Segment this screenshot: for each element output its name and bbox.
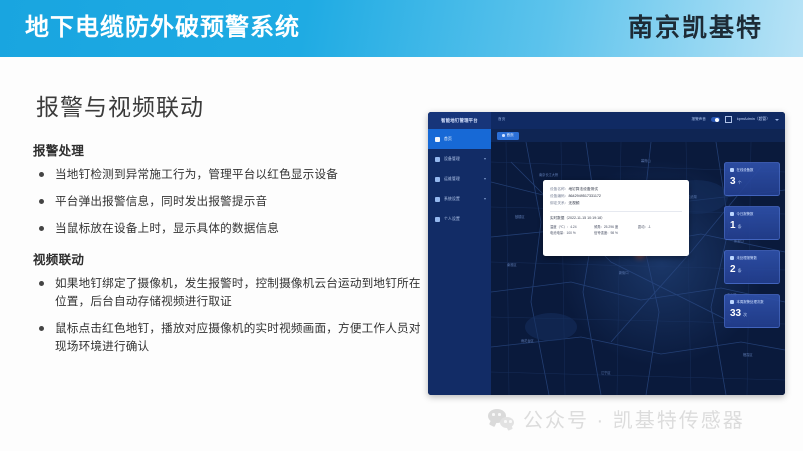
list-item: 如果地钉绑定了摄像机，发生报警时，控制摄像机云台运动到地钉所在位置，后台自动存储…	[33, 275, 423, 311]
sidebar-item-device[interactable]: 设备管理	[428, 149, 491, 169]
stat-unit: 条	[738, 268, 742, 273]
popup-metrics: 温度（℃）：4.24 倾角：25.296 度 震动：-1 电池电量：100 % …	[550, 224, 682, 237]
pending-icon	[730, 256, 734, 260]
stat-value: 2	[730, 264, 736, 275]
map-label: 新街口	[619, 270, 629, 275]
bullet-dot-icon	[39, 172, 44, 177]
home-icon	[435, 137, 440, 142]
map-label: 栖霞区	[743, 352, 753, 357]
topbar-right: 报警声音 kpmAdmin（超管）	[692, 116, 780, 123]
ops-icon	[435, 177, 440, 182]
map-label: 幕府山	[641, 158, 651, 163]
stat-card-pending-alarms[interactable]: 未处理报警数 2条	[724, 250, 780, 284]
metric-key: 震动：	[638, 225, 648, 229]
stat-value: 3	[730, 176, 736, 187]
stat-card-list: 在线设备数 3个 今日报警数 1条 未处理报	[724, 162, 780, 338]
stat-label: 今日报警数	[737, 211, 754, 216]
stat-card-today-alarms[interactable]: 今日报警数 1条	[724, 206, 780, 240]
sidebar-item-home[interactable]: 首页	[428, 129, 491, 149]
user-menu-label[interactable]: kpmAdmin（超管）	[737, 117, 770, 122]
breadcrumb: 首页	[498, 117, 506, 122]
sidebar-item-label: 个人设置	[444, 217, 460, 222]
stat-card-week-handled[interactable]: 本周报警处理次数 33次	[724, 294, 780, 328]
watermark-text: 公众号 · 凯基特传感器	[523, 404, 745, 433]
metric-key: 倾角：	[594, 225, 604, 229]
stat-unit: 次	[743, 312, 747, 317]
list-item: 鼠标点击红色地钉，播放对应摄像机的实时视频画面，方便工作人员对现场环境进行确认	[33, 320, 423, 356]
metric-value: 25.296 度	[604, 225, 618, 229]
bullet-dot-icon	[39, 226, 44, 231]
map-label: 秦淮区	[507, 262, 517, 267]
sidebar-item-label: 设备管理	[444, 157, 460, 162]
gear-icon	[435, 197, 440, 202]
slide: 地下电缆防外破预警系统 南京凯基特 报警与视频联动 报警处理 当地钉检测到异常施…	[0, 0, 803, 451]
sidebar-item-settings[interactable]: 系统设置	[428, 189, 491, 209]
stat-label: 在线设备数	[737, 167, 754, 172]
divider	[550, 211, 682, 212]
close-icon[interactable]	[502, 134, 505, 137]
stat-value: 33	[730, 308, 741, 319]
list-item-text: 如果地钉绑定了摄像机，发生报警时，控制摄像机云台运动到地钉所在位置，后台自动存储…	[55, 277, 421, 308]
stat-value-row: 3个	[730, 176, 774, 188]
metric-key: 温度（℃）：	[550, 225, 570, 229]
stat-value-row: 1条	[730, 220, 774, 232]
bullet-dot-icon	[39, 326, 44, 331]
popup-row-value: 8642949517331172	[568, 194, 601, 198]
metric-cell: 信号强度：98 %	[594, 230, 638, 236]
sidebar-item-label: 运维管理	[444, 177, 460, 182]
list-item-text: 当鼠标放在设备上时，显示具体的数据信息	[55, 222, 279, 235]
stat-label-row: 今日报警数	[730, 211, 774, 216]
map-label: 鼓楼区	[515, 214, 525, 219]
metric-cell: 震动：-1	[638, 224, 682, 230]
device-info-popup: 设备名称：地钉算法设备测试 设备编码：8642949517331172 绑定关系…	[543, 180, 689, 256]
stat-label-row: 本周报警处理次数	[730, 299, 774, 304]
dashboard-screenshot: 智能地钉管理平台 首页 报警声音 kpmAdmin（超管） 首页 设备管理	[428, 112, 785, 395]
sidebar-item-label: 首页	[444, 137, 452, 142]
stat-value-row: 2条	[730, 264, 774, 276]
header-title: 地下电缆防外破预警系统	[25, 12, 300, 44]
metric-value: 100 %	[566, 231, 575, 235]
bullet-list-alarm: 当地钉检测到异常施工行为，管理平台以红色显示设备 平台弹出报警信息，同时发出报警…	[33, 166, 423, 238]
alarm-sound-label: 报警声音	[692, 117, 706, 122]
dashboard-logo: 智能地钉管理平台	[428, 112, 491, 129]
list-item-text: 鼠标点击红色地钉，播放对应摄像机的实时视频画面，方便工作人员对现场环境进行确认	[55, 322, 421, 353]
metric-key: 信号强度：	[594, 231, 610, 235]
metric-value: -1	[648, 225, 651, 229]
popup-row-value: 地钉算法设备测试	[568, 187, 598, 191]
stat-card-online-devices[interactable]: 在线设备数 3个	[724, 162, 780, 196]
tab-label: 首页	[507, 133, 514, 138]
popup-row-key: 设备名称：	[550, 187, 568, 191]
dashboard-main: 首页	[491, 129, 785, 395]
fullscreen-icon[interactable]	[725, 116, 732, 123]
sidebar-item-label: 系统设置	[444, 197, 460, 202]
user-icon	[435, 217, 440, 222]
stat-label: 本周报警处理次数	[737, 299, 764, 304]
chevron-down-icon[interactable]	[775, 119, 779, 121]
popup-row: 设备名称：地钉算法设备测试	[550, 186, 682, 193]
list-item: 平台弹出报警信息，同时发出报警提示音	[33, 193, 423, 211]
metric-cell: 电池电量：100 %	[550, 230, 594, 236]
list-item: 当鼠标放在设备上时，显示具体的数据信息	[33, 220, 423, 238]
stat-label-row: 未处理报警数	[730, 255, 774, 260]
bullet-dot-icon	[39, 281, 44, 286]
chevron-down-icon	[484, 158, 486, 160]
header-brand: 南京凯基特	[628, 10, 763, 46]
map-label: 南京长江大桥	[539, 172, 558, 177]
map-label: 雨花台区	[521, 338, 534, 343]
bullet-dot-icon	[39, 199, 44, 204]
dashboard-topbar: 智能地钉管理平台 首页 报警声音 kpmAdmin（超管）	[428, 112, 785, 129]
content-column: 报警处理 当地钉检测到异常施工行为，管理平台以红色显示设备 平台弹出报警信息，同…	[33, 140, 423, 365]
popup-row-value: 无视频	[568, 201, 579, 205]
map-label: 江宁区	[601, 370, 611, 375]
stat-value: 1	[730, 220, 736, 231]
device-icon	[435, 157, 440, 162]
tab-home[interactable]: 首页	[497, 132, 519, 140]
slide-header: 地下电缆防外破预警系统 南京凯基特	[0, 0, 803, 57]
bullet-list-video: 如果地钉绑定了摄像机，发生报警时，控制摄像机云台运动到地钉所在位置，后台自动存储…	[33, 275, 423, 356]
list-item-text: 平台弹出报警信息，同时发出报警提示音	[55, 195, 267, 208]
watermark: 公众号 · 凯基特传感器	[488, 404, 745, 433]
stat-value-row: 33次	[730, 308, 774, 320]
page-title: 报警与视频联动	[36, 88, 204, 122]
stat-label: 未处理报警数	[737, 255, 757, 260]
chevron-down-icon	[484, 198, 486, 200]
metric-value: 98 %	[610, 231, 618, 235]
stat-label-row: 在线设备数	[730, 167, 774, 172]
dashboard-tabbar: 首页	[491, 129, 785, 142]
popup-row-key: 设备编码：	[550, 194, 568, 198]
metric-key: 电池电量：	[550, 231, 566, 235]
chevron-down-icon	[484, 178, 486, 180]
stat-unit: 个	[738, 180, 742, 185]
user-handle-icon	[730, 300, 734, 304]
metric-value: 4.24	[570, 225, 576, 229]
calendar-icon	[730, 212, 734, 216]
wechat-icon	[488, 409, 514, 428]
list-item-text: 当地钉检测到异常施工行为，管理平台以红色显示设备	[55, 168, 338, 181]
section-heading-alarm: 报警处理	[33, 140, 423, 159]
popup-realtime-title: 实时数据（2022-11-15 10:19:18）	[550, 215, 682, 222]
stat-unit: 条	[738, 224, 742, 229]
sidebar-item-profile[interactable]: 个人设置	[428, 209, 491, 229]
alarm-sound-toggle[interactable]	[711, 117, 720, 122]
list-item: 当地钉检测到异常施工行为，管理平台以红色显示设备	[33, 166, 423, 184]
section-heading-video: 视频联动	[33, 249, 423, 268]
popup-row-key: 绑定关系：	[550, 201, 568, 205]
popup-row: 绑定关系：无视频	[550, 200, 682, 207]
popup-row: 设备编码：8642949517331172	[550, 193, 682, 200]
map-canvas[interactable]: 南京长江大桥 幕府山 鼓楼区 玄武湖 紫金山 雨花台区 中山陵 新街口 江宁区 …	[491, 142, 785, 395]
dashboard-sidebar: 首页 设备管理 运维管理 系统设置 个人设置	[428, 129, 491, 395]
sidebar-item-ops[interactable]: 运维管理	[428, 169, 491, 189]
device-online-icon	[730, 168, 734, 172]
